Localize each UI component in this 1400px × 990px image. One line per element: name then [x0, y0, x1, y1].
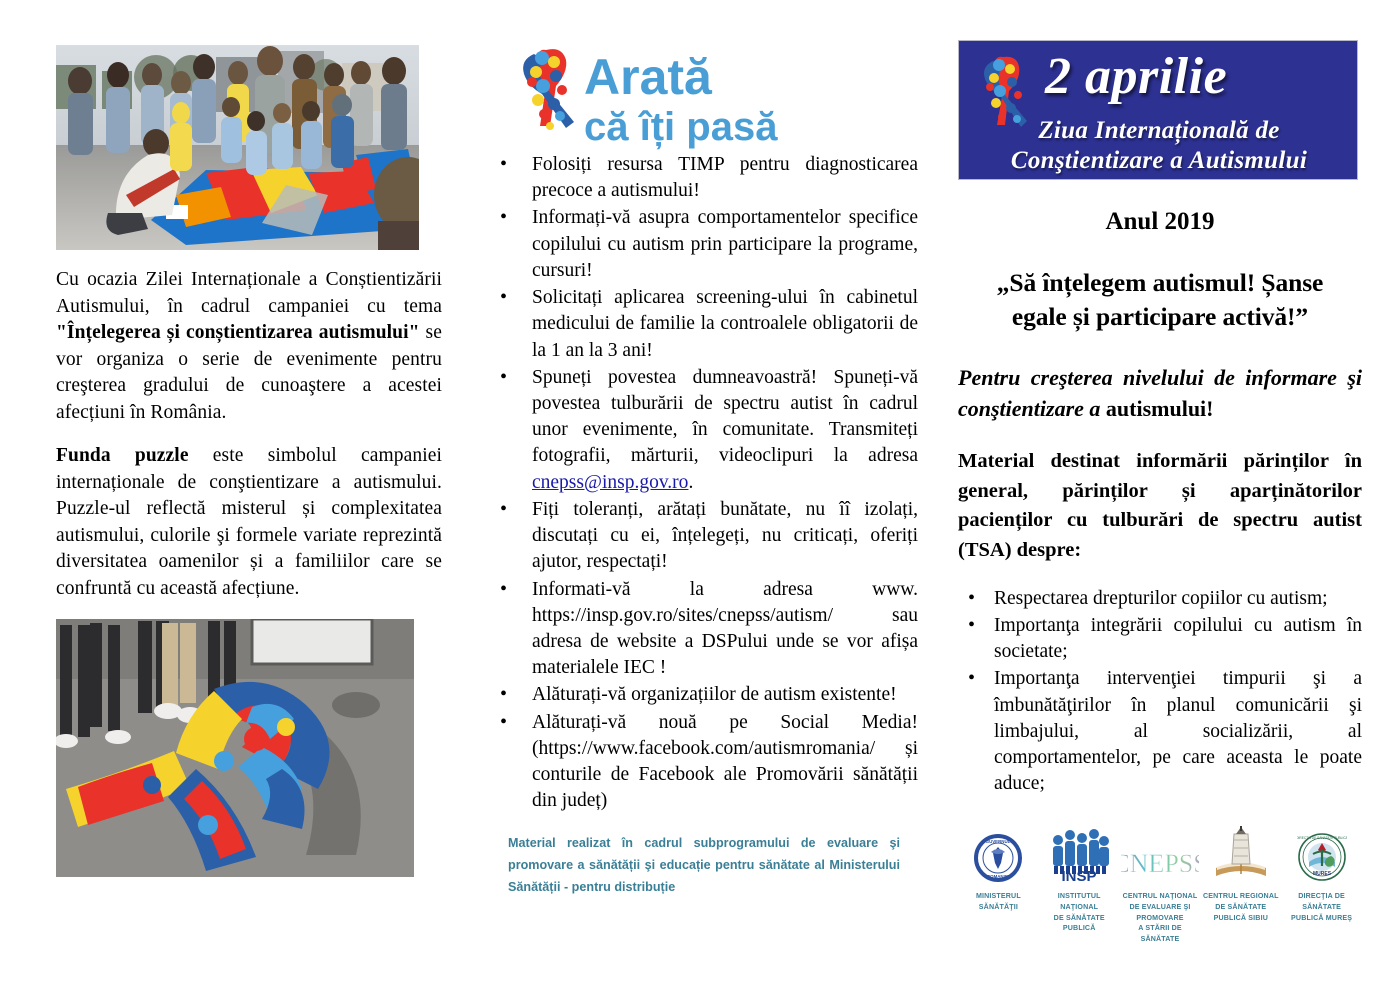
banner-subtitle-line1: Ziua Internațională de [959, 117, 1358, 145]
svg-text:că îți pasă: că îți pasă [584, 105, 778, 149]
paragraph: Funda puzzle este simbolul campaniei int… [56, 443, 442, 602]
logo-item: INSP INSTITUTUL NAŢIONAL DE SĂNĂTATE PUB… [1039, 824, 1120, 946]
list-item-text: Fiți toleranți, arătați bunătate, nu îî … [532, 499, 918, 572]
purpose-statement: Pentru creşterea nivelului de informare … [958, 363, 1362, 425]
list-item: Alăturați-vă nouă pe Social Media! (http… [492, 710, 918, 815]
audience-statement: Material destinat informării părinților … [958, 447, 1362, 566]
list-item-text: Alăturați-vă nouă pe Social Media! (http… [532, 712, 918, 812]
logo-item: CNEPSS CENTRUL NAŢIONAL DE EVALUARE ŞI P… [1120, 824, 1201, 946]
logo-caption: INSTITUTUL NAŢIONAL DE SĂNĂTATE PUBLICĂ [1039, 891, 1120, 935]
list-item: Alăturați-vă organizațiilor de autism ex… [492, 682, 918, 708]
motto-heading: „Să înțelegem autismul! Șanse egale și p… [958, 266, 1362, 333]
logo-caption: CENTRUL NAŢIONAL DE EVALUARE ŞI PROMOVAR… [1120, 891, 1201, 946]
svg-text:MURES: MURES [1313, 871, 1332, 877]
list-item: Importanţa integrării copilului cu autis… [958, 613, 1362, 665]
svg-text:DIRECTIA DE SANATATE PUBLICA: DIRECTIA DE SANATATE PUBLICA [1297, 836, 1347, 840]
arata-ca-iti-pasa-logo: Arată că îți pasă [510, 42, 778, 152]
list-item: Fiți toleranți, arătați bunătate, nu îî … [492, 497, 918, 576]
photo-puzzle-ribbon [56, 619, 414, 877]
paragraph: Cu ocazia Zilei Internaționale a Conștie… [56, 267, 442, 426]
list-item-text: Informați-vă asupra comportamentelor spe… [532, 207, 918, 280]
email-link[interactable]: cnepss@insp.gov.ro [532, 472, 688, 493]
list-item: Respectarea drepturilor copiilor cu auti… [958, 586, 1362, 612]
guvernul-romaniei-logo: GUVERNUL ROMANIEI [958, 824, 1039, 882]
left-text-block: Cu ocazia Zilei Internaționale a Conștie… [56, 267, 442, 602]
purpose-upright-part: autismului! [1106, 396, 1214, 421]
institution-logo-strip: GUVERNUL ROMANIEI MINISTERUL SĂNĂTĂŢII [958, 824, 1362, 946]
list-item-text: Spuneți povestea dumneavoastră! Spuneți-… [532, 367, 918, 467]
logo-item: GUVERNUL ROMANIEI MINISTERUL SĂNĂTĂŢII [958, 824, 1039, 946]
list-item-text: Alăturați-vă organizațiilor de autism ex… [532, 684, 897, 705]
emphasis-text: "Înțelegerea și conștientizarea autismul… [56, 322, 420, 343]
emphasis-text: Funda puzzle [56, 445, 189, 466]
svg-text:GUVERNUL: GUVERNUL [986, 839, 1011, 844]
list-item-text: Informati-vă la adresa www. https://insp… [532, 579, 918, 679]
dsp-mures-logo: MURES DIRECTIA DE SANATATE PUBLICA [1281, 824, 1362, 882]
column-middle: Arată că îți pasă Folosiți resursa TIMP … [470, 0, 940, 990]
list-item: Importanţa intervenţiei timpurii şi a îm… [958, 666, 1362, 797]
banner-date: 2 aprilie [1045, 47, 1227, 106]
list-item: Folosiți resursa TIMP pentru diagnostica… [492, 152, 918, 204]
brochure-page: Cu ocazia Zilei Internaționale a Conștie… [0, 0, 1400, 990]
motto-line-1: „Să înțelegem autismul! Șanse [958, 266, 1362, 300]
motto-line-2: egale și participare activă!” [958, 300, 1362, 334]
column-left: Cu ocazia Zilei Internaționale a Conștie… [0, 0, 470, 990]
list-item: Informați-vă asupra comportamentelor spe… [492, 205, 918, 284]
column-right: 2 aprilie Ziua Internațională de Conştie… [940, 0, 1400, 990]
list-item-text: Folosiți resursa TIMP pentru diagnostica… [532, 154, 918, 201]
list-item: Informati-vă la adresa www. https://insp… [492, 577, 918, 682]
photo-puzzle-crowd [56, 45, 419, 250]
cnepss-logo: CNEPSS [1120, 824, 1201, 882]
logo-caption: MINISTERUL SĂNĂTĂŢII [958, 891, 1039, 913]
body-text: este simbolul campaniei internaționale d… [56, 445, 442, 599]
insp-logo: INSP [1039, 824, 1120, 882]
svg-text:CNEPSS: CNEPSS [1121, 849, 1199, 878]
footer-note: Material realizat în cadrul subprogramul… [508, 833, 900, 898]
body-text: Cu ocazia Zilei Internaționale a Conștie… [56, 269, 442, 317]
svg-text:INSP: INSP [1062, 868, 1097, 882]
year-heading: Anul 2019 [958, 208, 1362, 236]
list-item-text-tail: . [688, 472, 693, 493]
logo-caption: DIRECŢIA DE SĂNĂTATE PUBLICĂ MUREŞ [1281, 891, 1362, 924]
logo-caption: CENTRUL REGIONAL DE SĂNĂTATE PUBLICĂ SIB… [1200, 891, 1281, 924]
list-item-text: Solicitați aplicarea screening-ului în c… [532, 287, 918, 360]
list-item: Solicitați aplicarea screening-ului în c… [492, 285, 918, 364]
logo-item: MURES DIRECTIA DE SANATATE PUBLICA DIREC… [1281, 824, 1362, 946]
list-item: Spuneți povestea dumneavoastră! Spuneți-… [492, 365, 918, 496]
right-bullet-list: Respectarea drepturilor copiilor cu auti… [958, 586, 1362, 798]
banner-2-aprilie: 2 aprilie Ziua Internațională de Conştie… [958, 40, 1358, 180]
svg-text:Arată: Arată [584, 49, 713, 105]
banner-subtitle-line2: Conştientizare a Autismului [959, 147, 1358, 175]
middle-bullet-list: Folosiți resursa TIMP pentru diagnostica… [492, 152, 918, 814]
logo-item: CENTRUL REGIONAL DE SĂNĂTATE PUBLICĂ SIB… [1200, 824, 1281, 946]
crsp-sibiu-logo [1200, 824, 1281, 882]
svg-text:ROMANIEI: ROMANIEI [987, 874, 1009, 879]
